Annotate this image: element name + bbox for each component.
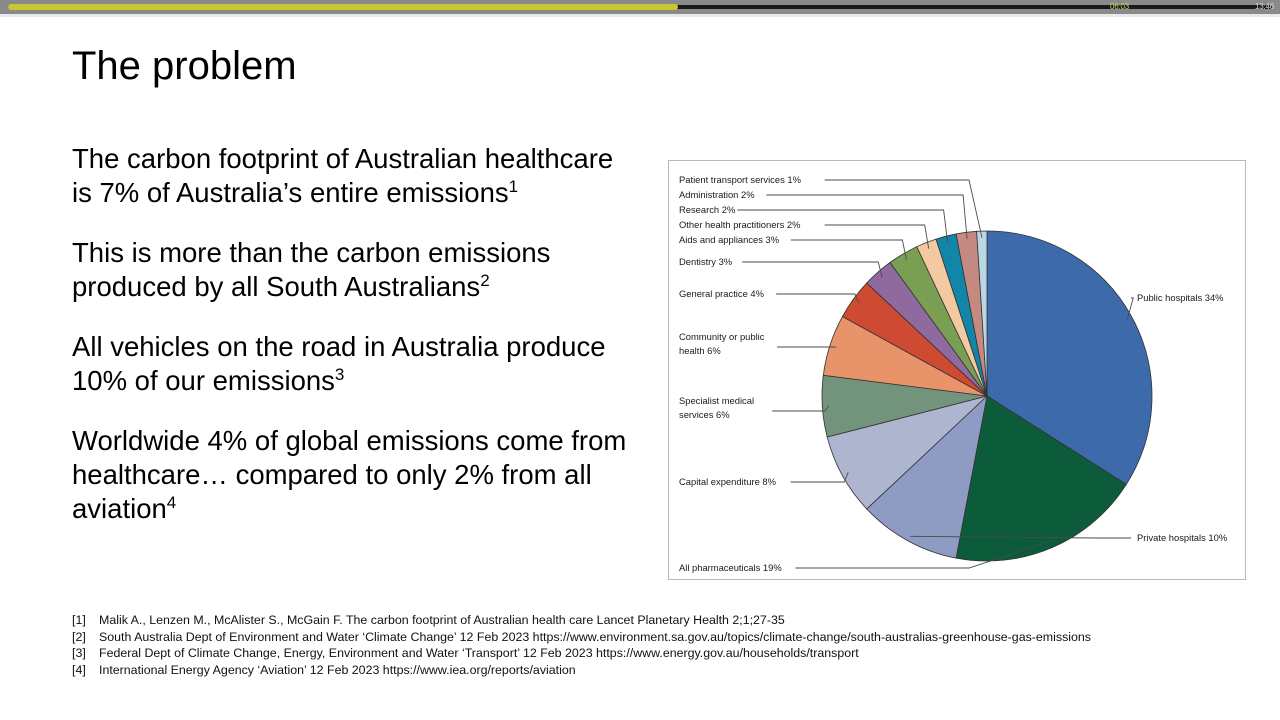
footnote-marker: [2] [72, 629, 99, 646]
leader-line [776, 294, 859, 303]
body-paragraph-3: All vehicles on the road in Australia pr… [72, 330, 632, 398]
total-time: 13:46 [1255, 1, 1274, 13]
footnote-marker: [1] [72, 612, 99, 629]
pie-slice-label: Specialist medical [679, 395, 754, 406]
video-progress-bar[interactable]: 06:03 13:46 [0, 0, 1280, 14]
footnote-list: [1] Malik A., Lenzen M., McAlister S., M… [72, 612, 1212, 678]
footnote-ref: 3 [335, 365, 344, 384]
leader-line [766, 195, 967, 239]
pie-slice-label: Capital expenditure 8% [679, 476, 776, 487]
topbar-divider [0, 14, 1280, 17]
pie-slice-label: Dentistry 3% [679, 256, 732, 267]
elapsed-time: 06:03 [1110, 1, 1129, 13]
pie-slice-label: All pharmaceuticals 19% [679, 562, 782, 573]
leader-line [791, 240, 907, 260]
paragraph-text: Worldwide 4% of global emissions come fr… [72, 425, 626, 524]
pie-slice-label: Other health practitioners 2% [679, 219, 800, 230]
footnote-text: Malik A., Lenzen M., McAlister S., McGai… [99, 612, 1212, 629]
leader-line [825, 180, 982, 238]
body-paragraph-1: The carbon footprint of Australian healt… [72, 142, 632, 210]
presentation-slide: 06:03 13:46 The problem The carbon footp… [0, 0, 1280, 720]
pie-slice-label: General practice 4% [679, 288, 764, 299]
progress-played[interactable] [8, 4, 678, 10]
pie-slice-label: Public hospitals 34% [1137, 292, 1224, 303]
footnote-text: International Energy Agency ‘Aviation’ 1… [99, 662, 1212, 679]
pie-slice-label: Private hospitals 10% [1137, 532, 1227, 543]
leader-line [772, 406, 829, 411]
footnote-ref: 1 [509, 177, 518, 196]
leader-line [825, 225, 929, 249]
pie-slice-label: health 6% [679, 345, 721, 356]
body-paragraph-4: Worldwide 4% of global emissions come fr… [72, 424, 632, 526]
pie-slice-group [822, 231, 1152, 561]
footnote-ref: 2 [480, 271, 489, 290]
footnote-text: Federal Dept of Climate Change, Energy, … [99, 645, 1212, 662]
footnote-item: [3] Federal Dept of Climate Change, Ener… [72, 645, 1212, 662]
leader-line [791, 472, 849, 482]
paragraph-text: All vehicles on the road in Australia pr… [72, 331, 606, 396]
pie-slice-label: Patient transport services 1% [679, 174, 801, 185]
pie-slice-label: Administration 2% [679, 189, 755, 200]
footnote-item: [1] Malik A., Lenzen M., McAlister S., M… [72, 612, 1212, 629]
healthcare-emissions-pie-chart: Patient transport services 1%Administrat… [669, 161, 1245, 579]
pie-slice-label: Community or public [679, 331, 765, 342]
footnote-text: South Australia Dept of Environment and … [99, 629, 1212, 646]
footnote-marker: [4] [72, 662, 99, 679]
paragraph-text: This is more than the carbon emissions p… [72, 237, 550, 302]
footnote-ref: 4 [167, 493, 176, 512]
page-title: The problem [72, 44, 297, 89]
leader-line [742, 262, 882, 277]
body-paragraph-2: This is more than the carbon emissions p… [72, 236, 632, 304]
pie-slice-label: Aids and appliances 3% [679, 234, 779, 245]
footnote-item: [4] International Energy Agency ‘Aviatio… [72, 662, 1212, 679]
paragraph-text: The carbon footprint of Australian healt… [72, 143, 613, 208]
pie-slice-label: services 6% [679, 409, 730, 420]
slide-body: The carbon footprint of Australian healt… [72, 142, 632, 526]
pie-slice-label: Research 2% [679, 204, 735, 215]
footnote-item: [2] South Australia Dept of Environment … [72, 629, 1212, 646]
pie-chart-panel: Patient transport services 1%Administrat… [668, 160, 1246, 580]
footnote-marker: [3] [72, 645, 99, 662]
